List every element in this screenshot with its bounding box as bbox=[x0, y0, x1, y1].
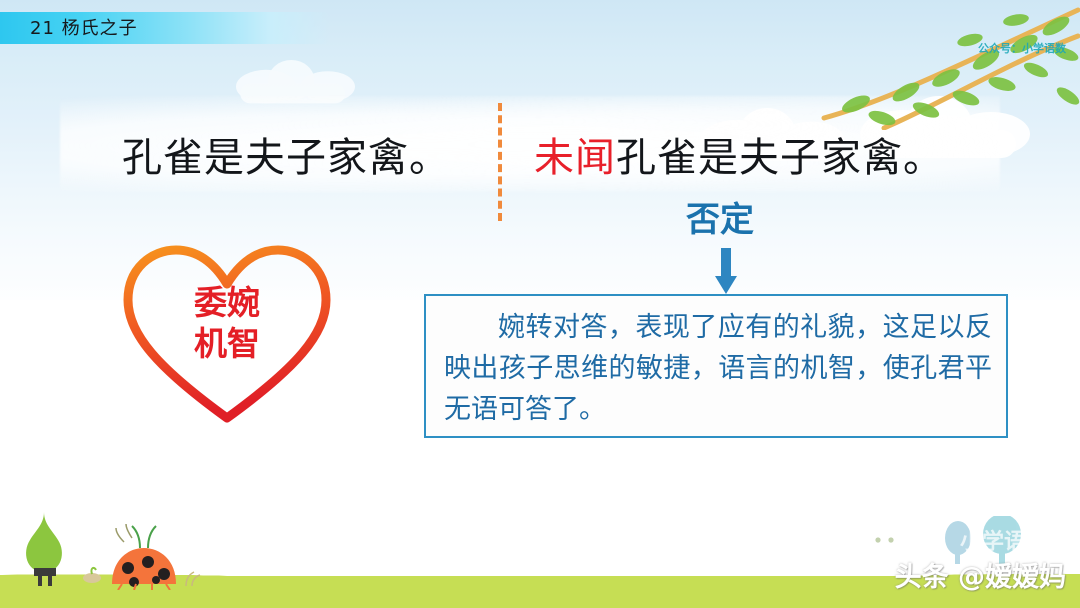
heart-label-line2: 机智 bbox=[118, 323, 336, 364]
watermark-faint-text: 小学语数 bbox=[960, 524, 1048, 556]
explanation-box: 婉转对答，表现了应有的礼貌，这足以反映出孩子思维的敏捷，语言的机智，使孔君平无语… bbox=[424, 294, 1008, 438]
heart-graphic: 委婉 机智 bbox=[118, 236, 336, 432]
grass-icon bbox=[186, 572, 200, 586]
revised-sentence: 未闻孔雀是夫子家禽。 bbox=[534, 125, 944, 183]
ladybug-icon bbox=[112, 524, 176, 590]
watermark-top-right: 公众号：小学语数 bbox=[978, 40, 1066, 56]
scenery-decoration bbox=[0, 490, 300, 590]
original-sentence: 孔雀是夫子家禽。 bbox=[122, 125, 450, 183]
negation-label: 否定 bbox=[686, 192, 754, 241]
down-arrow-icon bbox=[715, 248, 737, 294]
tree-icon bbox=[26, 512, 62, 586]
heart-label: 委婉 机智 bbox=[118, 282, 336, 365]
explanation-text: 婉转对答，表现了应有的礼貌，这足以反映出孩子思维的敏捷，语言的机智，使孔君平无语… bbox=[444, 307, 992, 430]
vertical-dashed-divider bbox=[498, 103, 502, 221]
page-title: 21 杨氏之子 bbox=[30, 14, 138, 40]
watermark-main-text: 头条 @嫒嫒妈 bbox=[895, 555, 1066, 594]
heart-label-line1: 委婉 bbox=[118, 282, 336, 323]
sprout-icon bbox=[83, 568, 101, 583]
watermark-bottom-right: 小学语数 头条 @嫒嫒妈 bbox=[852, 516, 1072, 598]
revised-sentence-highlight: 未闻 bbox=[534, 135, 616, 181]
revised-sentence-rest: 孔雀是夫子家禽。 bbox=[616, 135, 944, 181]
slide-canvas: 21 杨氏之子 bbox=[0, 0, 1080, 608]
branch-leaves-icon bbox=[820, 0, 1080, 130]
